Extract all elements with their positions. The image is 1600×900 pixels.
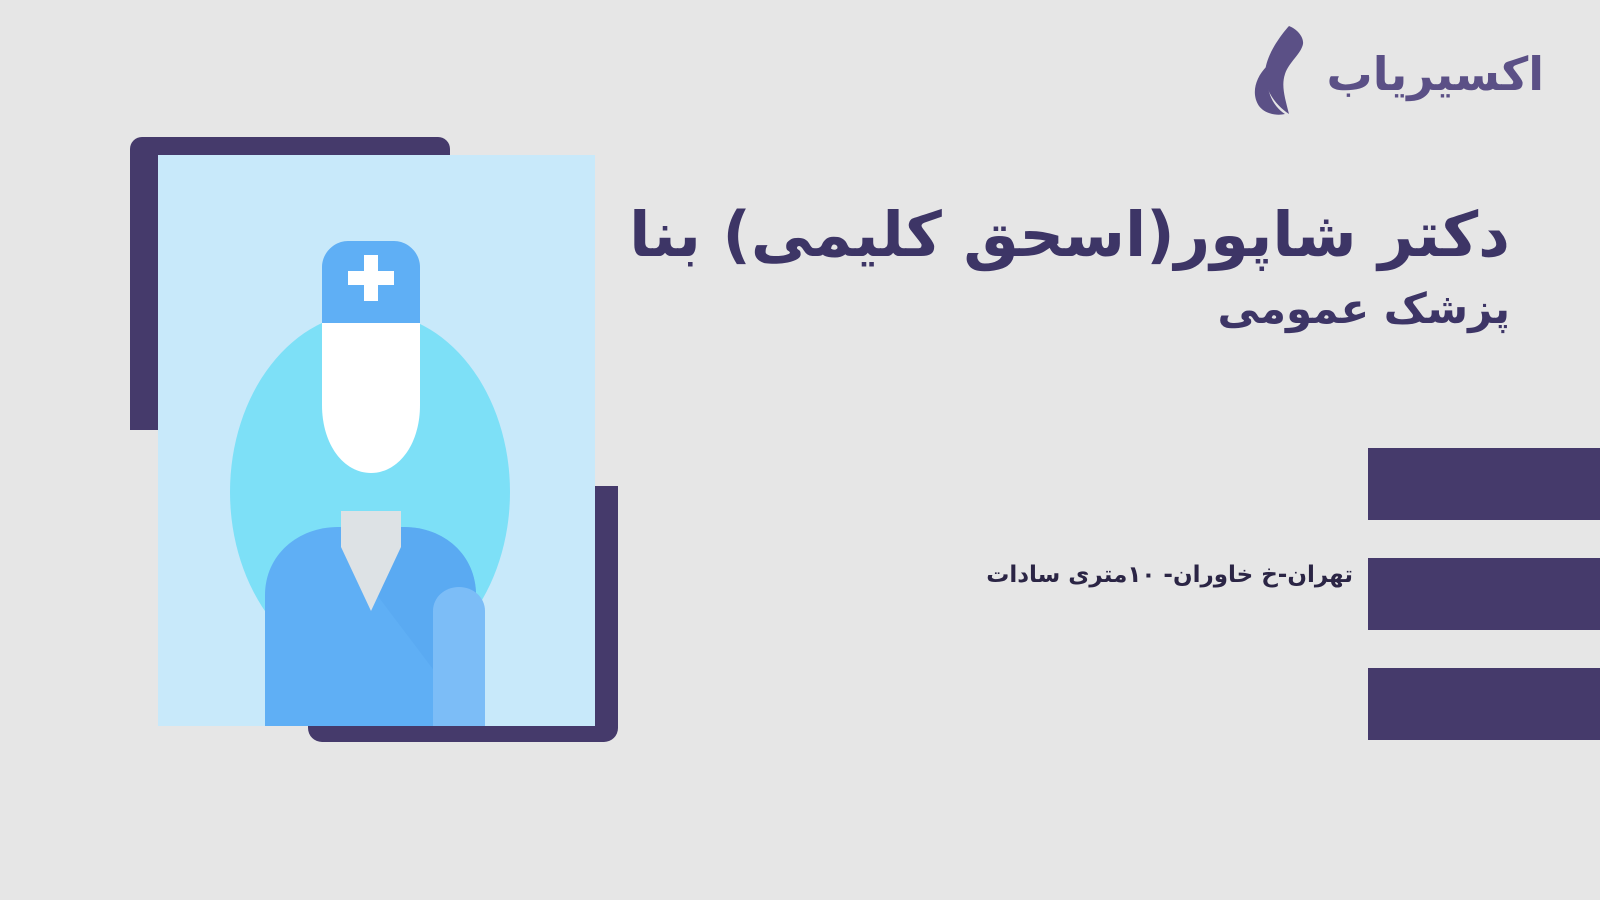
page-title: دکتر شاپور(اسحق کلیمی) بنا bbox=[550, 196, 1510, 274]
brand-logo[interactable]: اکسیریاب bbox=[1245, 24, 1545, 116]
doctor-info: دکتر شاپور(اسحق کلیمی) بنا پزشک عمومی bbox=[550, 196, 1510, 334]
doctor-illustration bbox=[0, 0, 700, 800]
decorative-bar-3 bbox=[1368, 668, 1600, 740]
doctor-avatar-illustration bbox=[158, 155, 595, 726]
doctor-specialty: پزشک عمومی bbox=[550, 284, 1510, 334]
decorative-bar-1 bbox=[1368, 448, 1600, 520]
scrubs-arm bbox=[433, 587, 485, 726]
doctor-photo-card bbox=[158, 155, 595, 726]
brand-name: اکسیریاب bbox=[1327, 51, 1545, 97]
doctor-address: تهران-خ خاوران- ۱۰متری سادات bbox=[986, 562, 1353, 588]
profile-banner: اکسیریاب bbox=[0, 0, 1600, 900]
decorative-bar-2 bbox=[1368, 558, 1600, 630]
flame-drop-icon bbox=[1245, 24, 1317, 116]
